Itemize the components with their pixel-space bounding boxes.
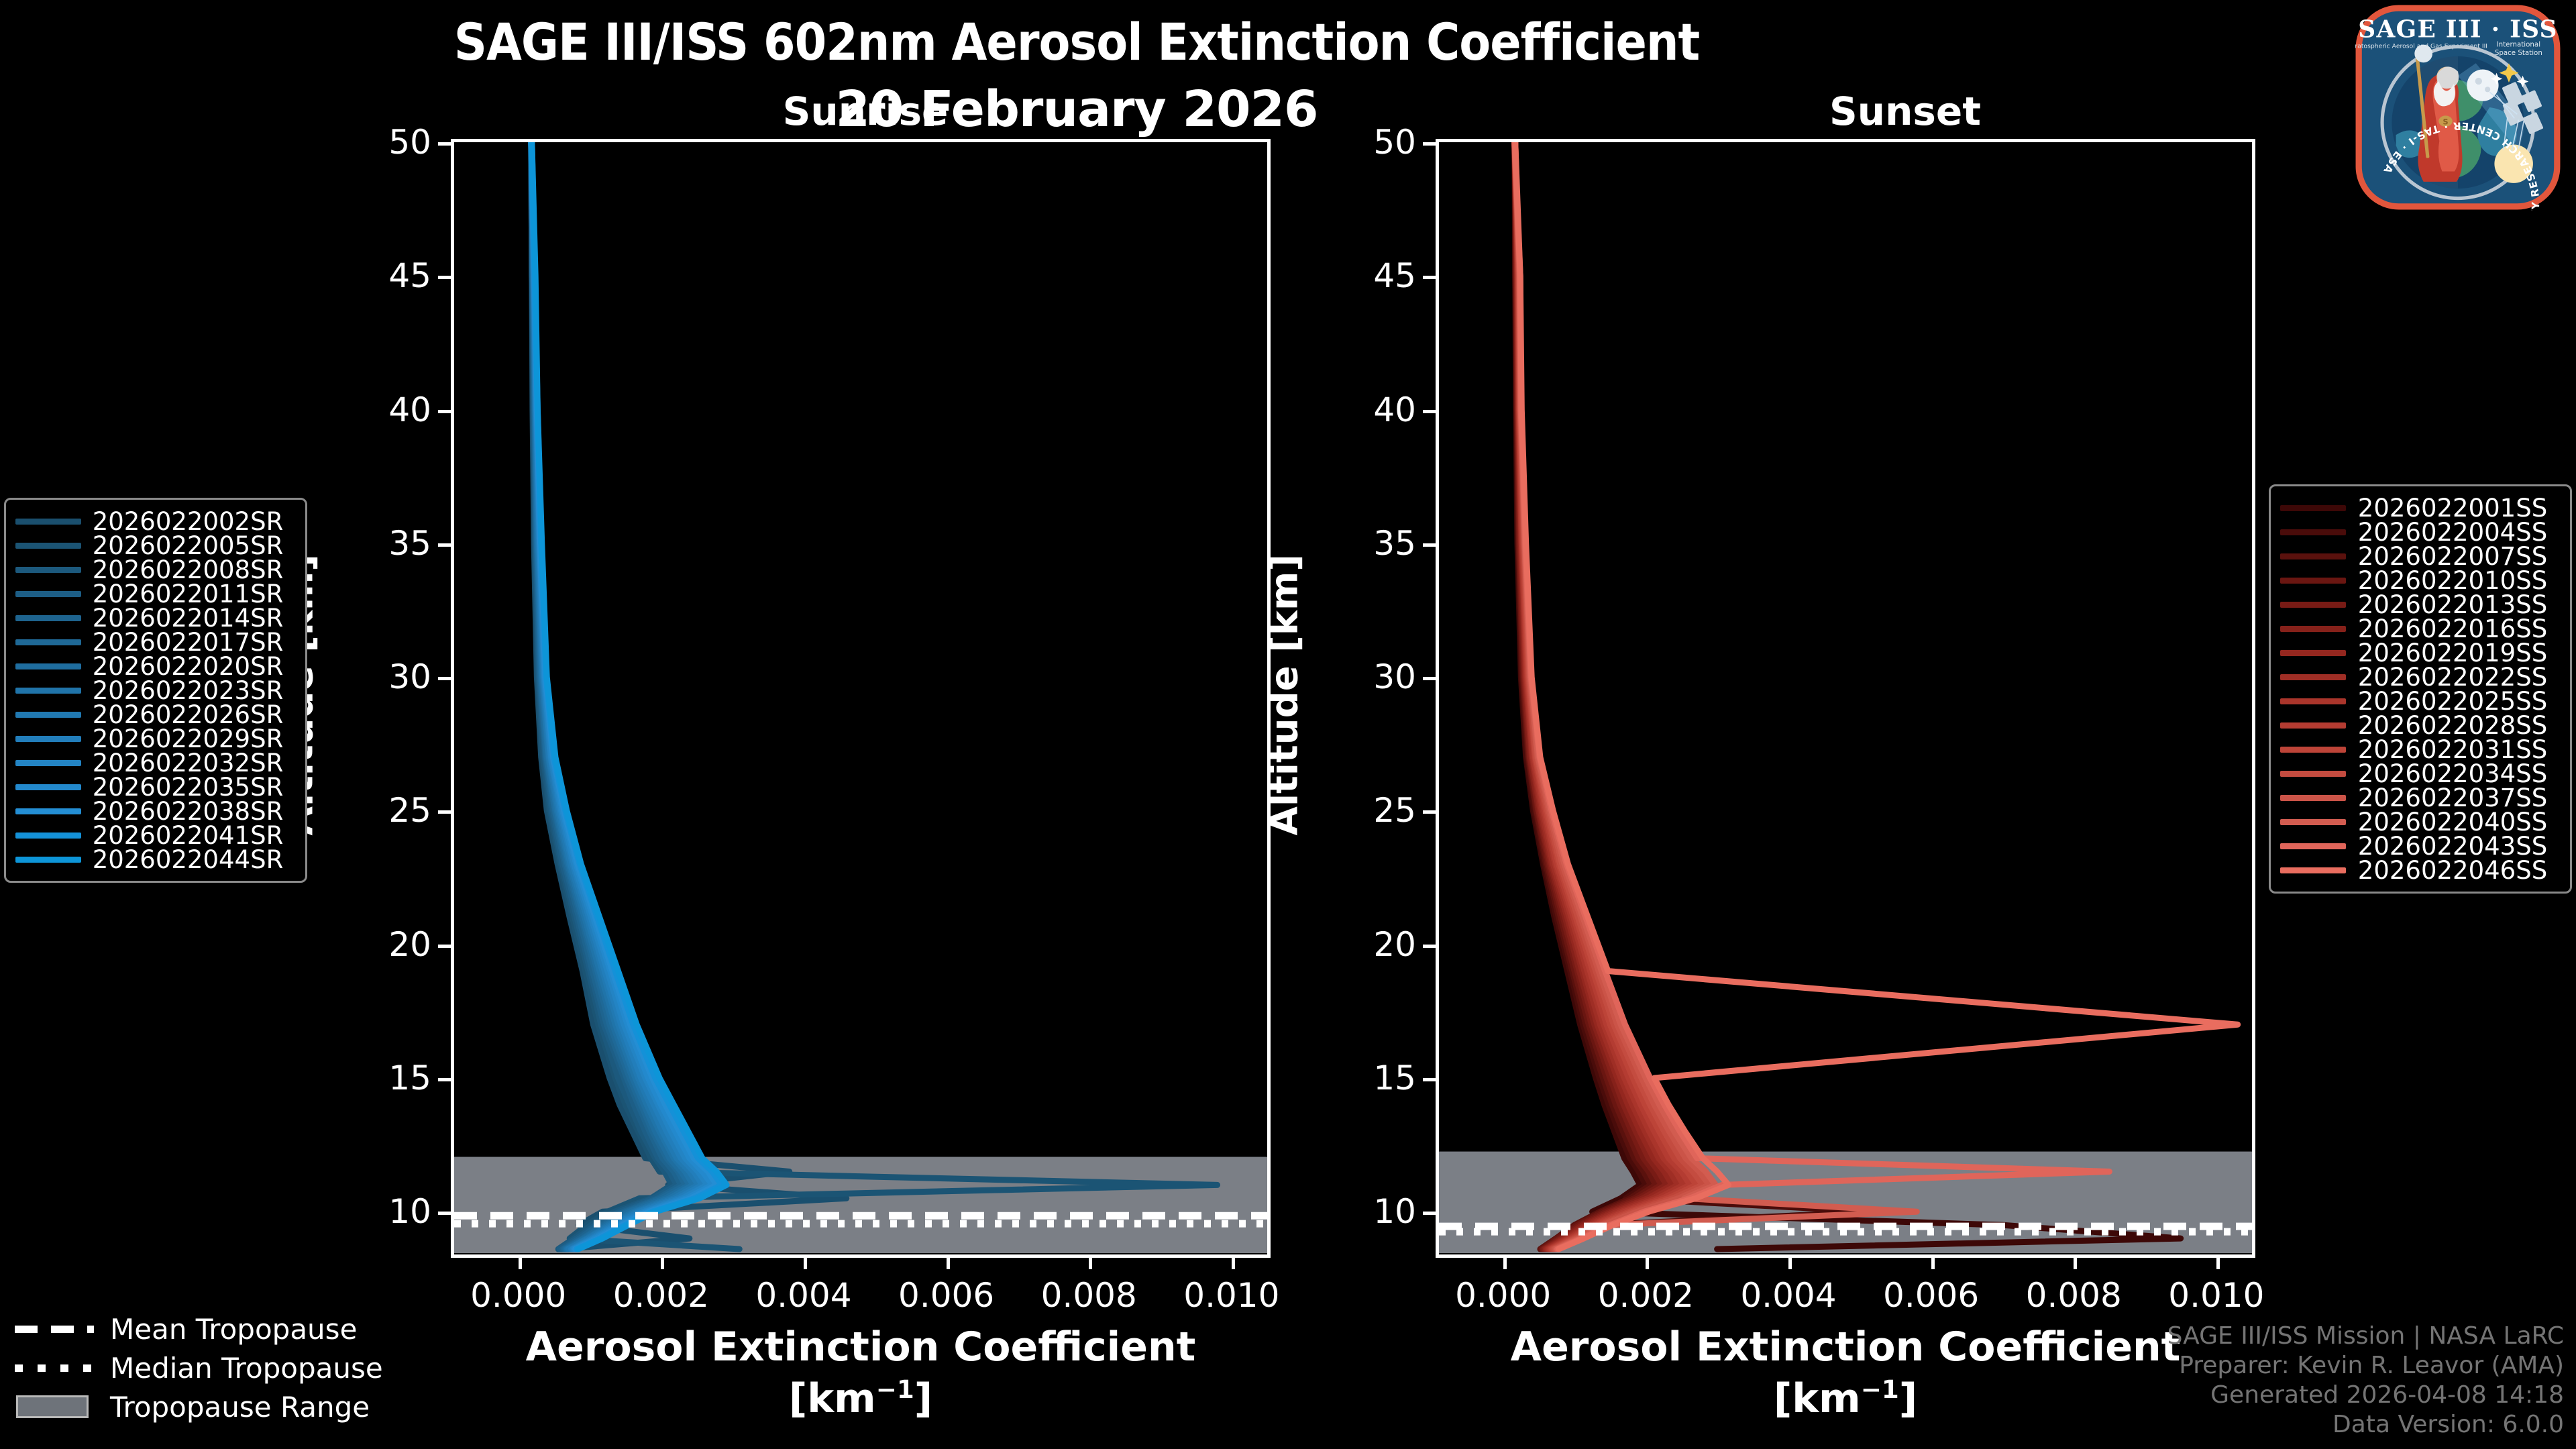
x-axis-tick-label: 0.002 (613, 1276, 709, 1315)
moon-icon (2467, 70, 2498, 101)
sunrise-panel-title: Sunrise (678, 89, 1053, 134)
y-axis-tick (438, 1212, 453, 1215)
credit-line-mission: SAGE III/ISS Mission | NASA LaRC (2167, 1322, 2564, 1351)
logo-subtitle-right-1: International (2497, 41, 2540, 49)
sunset-panel-title: Sunset (1657, 89, 2153, 134)
x-axis-tick-label: 0.002 (1598, 1276, 1694, 1315)
legend-item-sunset-event[interactable]: 2026022034SS (2280, 761, 2559, 786)
x-axis-tick (1232, 1254, 1235, 1269)
x-axis-tick-label: 0.006 (1883, 1276, 1979, 1315)
y-axis-tick-label: 15 (388, 1061, 431, 1095)
legend-item-sunset-event[interactable]: 2026022028SS (2280, 713, 2559, 737)
y-axis-tick-label: 45 (388, 259, 431, 292)
x-axis-tick-label: 0.008 (2026, 1276, 2122, 1315)
legend-item-sunrise-event[interactable]: 2026022029SR (15, 727, 294, 751)
legend-item-sunset-event[interactable]: 2026022001SS (2280, 496, 2559, 520)
legend-item-sunset-event[interactable]: 2026022040SS (2280, 810, 2559, 834)
legend-item-sunset-event[interactable]: 2026022016SS (2280, 616, 2559, 641)
y-axis-tick (1423, 945, 1438, 948)
y-axis-tick (1423, 1212, 1438, 1215)
y-axis-tick-label: 40 (1373, 393, 1416, 427)
legend-color-swatch (2280, 819, 2346, 825)
logo-subtitle-right-2: Space Station (2495, 49, 2542, 57)
y-axis-tick (1423, 1078, 1438, 1081)
x-axis-tick (661, 1254, 664, 1269)
y-axis-tick-label: 25 (1373, 794, 1416, 827)
y-axis-tick (1423, 810, 1438, 814)
legend-item-sunrise-event[interactable]: 2026022011SR (15, 582, 294, 606)
legend-event-label: 2026022044SR (81, 845, 294, 874)
y-axis-tick (438, 945, 453, 948)
legend-item-sunset-event[interactable]: 2026022007SS (2280, 544, 2559, 568)
legend-color-swatch (2280, 795, 2346, 801)
legend-color-swatch (15, 808, 81, 814)
legend-item-sunset-event[interactable]: 2026022022SS (2280, 665, 2559, 689)
x-axis-tick (1503, 1254, 1507, 1269)
sunrise-plot: Altitude [km] Aerosol Extinction Coeffic… (451, 139, 1271, 1258)
legend-item-sunset-event[interactable]: 2026022037SS (2280, 786, 2559, 810)
legend-item-median-tropopause: Median Tropopause (15, 1348, 383, 1387)
legend-item-sunrise-event[interactable]: 2026022014SR (15, 606, 294, 630)
legend-color-swatch (15, 639, 81, 645)
legend-item-sunrise-event[interactable]: 2026022044SR (15, 847, 294, 871)
sunset-y-axis-label: Altitude [km] (1263, 568, 1307, 836)
legend-item-mean-tropopause: Mean Tropopause (15, 1309, 383, 1348)
legend-item-sunset-event[interactable]: 2026022019SS (2280, 641, 2559, 665)
y-axis-tick-label: 20 (388, 928, 431, 961)
y-axis-tick-label: 25 (388, 794, 431, 827)
y-axis-tick-label: 45 (1373, 259, 1416, 292)
legend-color-swatch (2280, 529, 2346, 535)
legend-item-sunrise-event[interactable]: 2026022002SR (15, 509, 294, 533)
x-axis-tick-label: 0.006 (898, 1276, 994, 1315)
x-axis-tick-label: 0.000 (1455, 1276, 1551, 1315)
y-axis-tick (438, 543, 453, 547)
y-axis-tick (1423, 677, 1438, 680)
y-axis-tick (1423, 410, 1438, 413)
legend-color-swatch (2280, 578, 2346, 584)
legend-item-sunrise-event[interactable]: 2026022035SR (15, 775, 294, 799)
legend-color-swatch (15, 567, 81, 573)
sunrise-x-axis-label: Aerosol Extinction Coefficient [km−1] (454, 1322, 1267, 1425)
legend-color-swatch (15, 543, 81, 549)
sunset-plot: Altitude [km] Aerosol Extinction Coeffic… (1436, 139, 2255, 1258)
y-axis-tick-label: 15 (1373, 1061, 1416, 1095)
legend-color-swatch (15, 591, 81, 597)
sunset-legend[interactable]: 2026022001SS2026022004SS2026022007SS2026… (2269, 484, 2572, 894)
legend-item-tropopause-range: Tropopause Range (15, 1387, 383, 1426)
y-axis-tick-label: 50 (1373, 125, 1416, 159)
dotted-line-icon (15, 1359, 94, 1377)
legend-item-sunrise-event[interactable]: 2026022005SR (15, 533, 294, 557)
sunrise-plot-area (454, 142, 1267, 1254)
sunset-x-axis-unit: [km−1] (1439, 1373, 2252, 1425)
page-title: SAGE III/ISS 602nm Aerosol Extinction Co… (0, 12, 2153, 72)
legend-color-swatch (15, 712, 81, 718)
legend-color-swatch (15, 833, 81, 839)
y-axis-tick (438, 1078, 453, 1081)
legend-color-swatch (15, 857, 81, 863)
legend-color-swatch (2280, 867, 2346, 873)
x-axis-tick-label: 0.004 (755, 1276, 851, 1315)
x-axis-tick (1931, 1254, 1935, 1269)
sage-iii-iss-mission-patch-logo: SAGE III · ISS Stratospheric Aerosol and… (2355, 4, 2561, 211)
legend-color-swatch (2280, 553, 2346, 559)
x-axis-tick (1646, 1254, 1649, 1269)
shaded-box-icon (15, 1398, 94, 1415)
tropopause-legend: Mean Tropopause Median Tropopause Tropop… (15, 1309, 383, 1426)
legend-item-sunset-event[interactable]: 2026022046SS (2280, 858, 2559, 882)
x-axis-tick (1788, 1254, 1792, 1269)
y-axis-tick (1423, 142, 1438, 146)
legend-event-label: 2026022046SS (2346, 856, 2559, 885)
legend-color-swatch (2280, 722, 2346, 729)
y-axis-tick-label: 35 (1373, 527, 1416, 560)
sunrise-x-axis-unit: [km−1] (454, 1373, 1267, 1425)
legend-color-swatch (15, 784, 81, 790)
legend-item-sunrise-event[interactable]: 2026022023SR (15, 678, 294, 702)
legend-color-swatch (15, 663, 81, 669)
x-axis-tick-label: 0.004 (1740, 1276, 1836, 1315)
legend-color-swatch (2280, 747, 2346, 753)
sunset-x-axis-label: Aerosol Extinction Coefficient [km−1] (1439, 1322, 2252, 1425)
y-axis-tick (438, 410, 453, 413)
legend-item-sunrise-event[interactable]: 2026022017SR (15, 630, 294, 654)
legend-label-mean-tropopause: Mean Tropopause (110, 1313, 357, 1346)
legend-color-swatch (2280, 602, 2346, 608)
y-axis-tick-label: 10 (388, 1195, 431, 1228)
legend-item-sunrise-event[interactable]: 2026022038SR (15, 799, 294, 823)
credit-line-generated: Generated 2026-04-08 14:18 (2167, 1381, 2564, 1410)
x-axis-tick (1089, 1254, 1092, 1269)
legend-item-sunset-event[interactable]: 2026022004SS (2280, 520, 2559, 544)
y-axis-tick (438, 677, 453, 680)
legend-item-sunset-event[interactable]: 2026022025SS (2280, 689, 2559, 713)
legend-item-sunrise-event[interactable]: 2026022041SR (15, 823, 294, 847)
y-axis-tick-label: 35 (388, 527, 431, 560)
y-axis-tick-label: 10 (1373, 1195, 1416, 1228)
legend-color-swatch (15, 736, 81, 742)
dashed-line-icon (15, 1320, 94, 1338)
y-axis-tick-label: 50 (388, 125, 431, 159)
legend-color-swatch (2280, 626, 2346, 632)
x-axis-tick (804, 1254, 807, 1269)
y-axis-tick (1423, 276, 1438, 279)
series-line (531, 142, 847, 1249)
legend-item-sunrise-event[interactable]: 2026022032SR (15, 751, 294, 775)
y-axis-tick (438, 810, 453, 814)
legend-label-median-tropopause: Median Tropopause (110, 1352, 383, 1385)
x-axis-tick (2216, 1254, 2220, 1269)
x-axis-tick-label: 0.010 (2168, 1276, 2264, 1315)
series-line (1515, 142, 1874, 1249)
credits-block: SAGE III/ISS Mission | NASA LaRC Prepare… (2167, 1322, 2564, 1440)
x-axis-tick (947, 1254, 950, 1269)
legend-color-swatch (15, 519, 81, 525)
legend-item-sunset-event[interactable]: 2026022010SS (2280, 568, 2559, 592)
legend-color-swatch (2280, 650, 2346, 656)
legend-item-sunrise-event[interactable]: 2026022008SR (15, 557, 294, 582)
legend-color-swatch (15, 760, 81, 766)
x-axis-tick-label: 0.008 (1041, 1276, 1137, 1315)
legend-color-swatch (2280, 843, 2346, 849)
sunrise-legend[interactable]: 2026022002SR2026022005SR2026022008SR2026… (4, 498, 307, 883)
y-axis-tick-label: 20 (1373, 928, 1416, 961)
x-axis-tick (2074, 1254, 2077, 1269)
legend-color-swatch (15, 615, 81, 621)
y-axis-tick-label: 40 (388, 393, 431, 427)
sunrise-x-axis-label-main: Aerosol Extinction Coefficient (526, 1324, 1196, 1371)
legend-item-sunset-event[interactable]: 2026022043SS (2280, 834, 2559, 858)
sunset-series-canvas (1439, 142, 2252, 1254)
legend-color-swatch (2280, 771, 2346, 777)
legend-item-sunrise-event[interactable]: 2026022026SR (15, 702, 294, 727)
x-axis-tick (519, 1254, 522, 1269)
legend-color-swatch (2280, 674, 2346, 680)
legend-label-tropopause-range: Tropopause Range (110, 1391, 370, 1424)
sunset-x-axis-label-main: Aerosol Extinction Coefficient (1511, 1324, 2181, 1371)
sunset-plot-area (1439, 142, 2252, 1254)
series-line (1515, 142, 1917, 1249)
logo-title: SAGE III · ISS (2358, 15, 2557, 43)
legend-item-sunset-event[interactable]: 2026022031SS (2280, 737, 2559, 761)
y-axis-tick-label: 30 (388, 660, 431, 694)
y-axis-tick (1423, 543, 1438, 547)
sunrise-series-canvas (454, 142, 1267, 1254)
legend-item-sunrise-event[interactable]: 2026022020SR (15, 654, 294, 678)
x-axis-tick-label: 0.000 (470, 1276, 566, 1315)
legend-color-swatch (2280, 505, 2346, 511)
credit-line-data-version: Data Version: 6.0.0 (2167, 1410, 2564, 1440)
y-axis-tick-label: 30 (1373, 660, 1416, 694)
x-axis-tick-label: 0.010 (1183, 1276, 1279, 1315)
credit-line-preparer: Preparer: Kevin R. Leavor (AMA) (2167, 1351, 2564, 1381)
legend-item-sunset-event[interactable]: 2026022013SS (2280, 592, 2559, 616)
legend-color-swatch (2280, 698, 2346, 704)
y-axis-tick (438, 142, 453, 146)
legend-color-swatch (15, 688, 81, 694)
y-axis-tick (438, 276, 453, 279)
